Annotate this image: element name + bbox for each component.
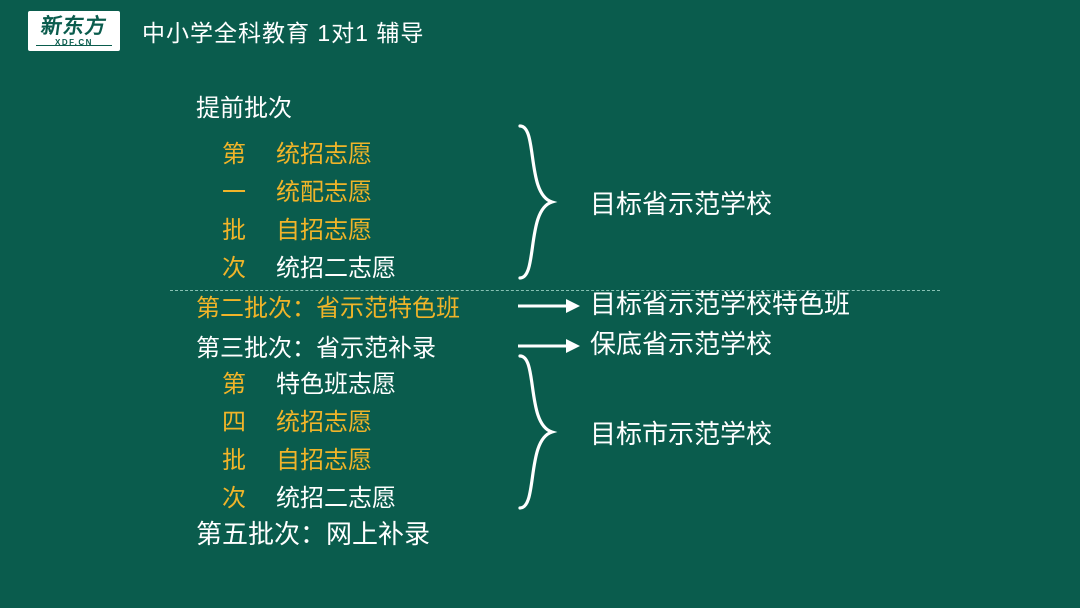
logo-underline [36, 45, 112, 47]
group-one-item-1: 统招志愿 [276, 141, 372, 168]
header-bar: 新东方 XDF.CN 中小学全科教育 1对1 辅导 [0, 0, 1080, 62]
group-two-item-3: 自招志愿 [276, 447, 372, 474]
group-two-prefix-1: 第 [222, 364, 276, 399]
group-two-item-1: 特色班志愿 [276, 371, 396, 398]
group-two-prefix-3: 批 [222, 440, 276, 475]
group-two-row-3: 批自招志愿 [222, 440, 372, 475]
group-two-result-label: 目标市示范学校 [590, 414, 772, 451]
arrow-right-icon-batch-two [516, 296, 582, 316]
group-one-row-4: 次统招二志愿 [222, 248, 396, 283]
arrow-right-icon-batch-three [516, 336, 582, 356]
brand-logo: 新东方 XDF.CN [28, 11, 120, 51]
brace-icon-group-one [512, 124, 560, 280]
group-one-prefix-3: 批 [222, 210, 276, 245]
group-two-row-4: 次统招二志愿 [222, 478, 396, 513]
group-two-row-1: 第特色班志愿 [222, 364, 396, 399]
header-title: 中小学全科教育 1对1 辅导 [142, 14, 424, 48]
group-one-row-1: 第统招志愿 [222, 134, 372, 169]
section-title: 提前批次 [196, 88, 292, 123]
group-two-prefix-4: 次 [222, 478, 276, 513]
group-one-prefix-4: 次 [222, 248, 276, 283]
section-divider [170, 290, 940, 291]
group-two-row-2: 四统招志愿 [222, 402, 372, 437]
group-one-prefix-2: 一 [222, 172, 276, 207]
batch-three-label: 第三批次：省示范补录 [196, 328, 436, 363]
group-one-item-3: 自招志愿 [276, 217, 372, 244]
group-two-item-4: 统招二志愿 [276, 485, 396, 512]
group-one-prefix-1: 第 [222, 134, 276, 169]
logo-main-text: 新东方 [40, 16, 109, 37]
group-one-row-2: 一统配志愿 [222, 172, 372, 207]
group-two-prefix-2: 四 [222, 402, 276, 437]
group-one-row-3: 批自招志愿 [222, 210, 372, 245]
group-one-item-4: 统招二志愿 [276, 255, 396, 282]
slide-content: 提前批次 第统招志愿 一统配志愿 批自招志愿 次统招二志愿 目标省示范学校 第二… [0, 62, 1080, 608]
batch-five-label: 第五批次：网上补录 [196, 514, 430, 551]
group-one-result-label: 目标省示范学校 [590, 184, 772, 221]
batch-two-label: 第二批次：省示范特色班 [196, 288, 460, 323]
group-two-item-2: 统招志愿 [276, 409, 372, 436]
brace-icon-group-two [512, 354, 560, 510]
batch-three-result-label: 保底省示范学校 [590, 324, 772, 361]
group-one-item-2: 统配志愿 [276, 179, 372, 206]
